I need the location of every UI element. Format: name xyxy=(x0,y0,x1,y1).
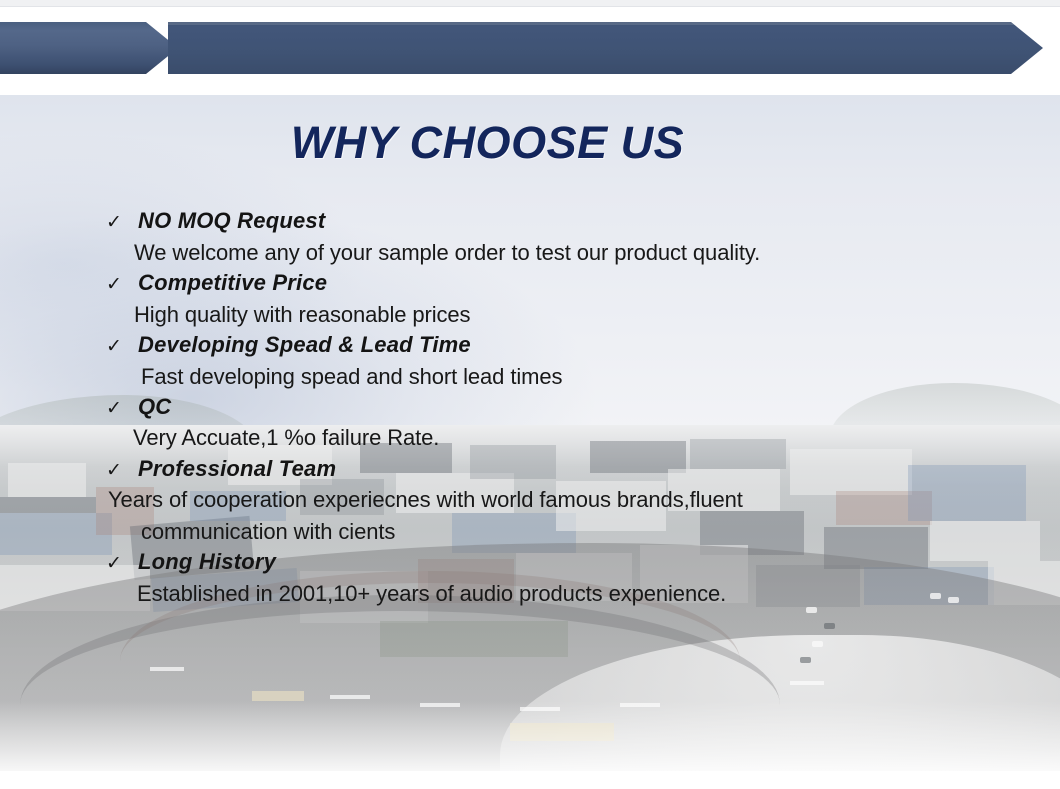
list-item: ✓ Long History Established in 2001,10+ y… xyxy=(0,547,1060,609)
benefit-body: Fast developing spead and short lead tim… xyxy=(0,361,1060,392)
list-item: ✓ Developing Spead & Lead Time Fast deve… xyxy=(0,330,1060,392)
benefit-heading-row: ✓ Professional Team xyxy=(0,454,1060,484)
benefit-body: Very Accuate,1 %o failure Rate. xyxy=(0,422,1060,453)
list-item: ✓ QC Very Accuate,1 %o failure Rate. xyxy=(0,392,1060,454)
check-icon: ✓ xyxy=(106,275,138,294)
benefits-list: ✓ NO MOQ Request We welcome any of your … xyxy=(0,206,1060,609)
list-item: ✓ Competitive Price High quality with re… xyxy=(0,268,1060,330)
bottom-white-strip xyxy=(0,771,1060,789)
benefit-heading: NO MOQ Request xyxy=(138,206,325,236)
list-item: ✓ Professional Team Years of cooperation… xyxy=(0,454,1060,547)
benefit-heading-row: ✓ QC xyxy=(0,392,1060,422)
benefit-heading-row: ✓ Developing Spead & Lead Time xyxy=(0,330,1060,360)
top-hairline-divider xyxy=(0,0,1060,7)
page-title: WHY CHOOSE US xyxy=(0,117,975,169)
check-icon: ✓ xyxy=(106,213,138,232)
check-icon: ✓ xyxy=(106,337,138,356)
check-icon: ✓ xyxy=(106,461,138,480)
check-icon: ✓ xyxy=(106,554,138,573)
benefit-body: Years of cooperation experiecnes with wo… xyxy=(0,484,1060,546)
benefit-body: High quality with reasonable prices xyxy=(0,299,1060,330)
slide-content: WHY CHOOSE US ✓ NO MOQ Request We welcom… xyxy=(0,95,1060,771)
list-item: ✓ NO MOQ Request We welcome any of your … xyxy=(0,206,1060,268)
benefit-heading-row: ✓ Long History xyxy=(0,547,1060,577)
check-icon: ✓ xyxy=(106,399,138,418)
slide-canvas: WHY CHOOSE US ✓ NO MOQ Request We welcom… xyxy=(0,0,1060,789)
benefit-heading-row: ✓ NO MOQ Request xyxy=(0,206,1060,236)
benefit-body: We welcome any of your sample order to t… xyxy=(0,237,1060,268)
benefit-heading: QC xyxy=(138,392,171,422)
header-banner xyxy=(0,22,1060,74)
benefit-heading: Long History xyxy=(138,547,276,577)
banner-arrow-large-icon xyxy=(168,22,1043,74)
banner-arrow-small-icon xyxy=(0,22,178,74)
benefit-heading: Competitive Price xyxy=(138,268,327,298)
benefit-heading: Developing Spead & Lead Time xyxy=(138,330,471,360)
benefit-heading: Professional Team xyxy=(138,454,336,484)
benefit-heading-row: ✓ Competitive Price xyxy=(0,268,1060,298)
benefit-body: Established in 2001,10+ years of audio p… xyxy=(0,578,1060,609)
